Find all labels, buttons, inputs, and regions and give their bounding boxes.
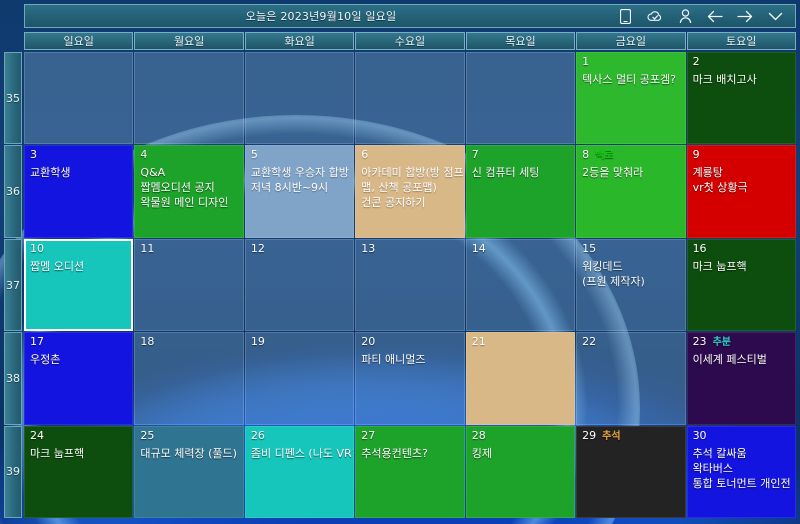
day-header: 3 xyxy=(30,149,127,161)
day-cell-25[interactable]: 25대규모 체력장 (풀드) xyxy=(134,426,243,518)
day-header: 6 xyxy=(361,149,458,161)
event-item[interactable]: 추석 칼싸움 xyxy=(693,446,790,461)
day-cell-17[interactable]: 17우정촌 xyxy=(24,332,133,424)
day-cell-11[interactable]: 11 xyxy=(134,239,243,331)
day-cell-9[interactable]: 9계룡탕vr첫 상황극 xyxy=(687,145,796,237)
weekday-header-3[interactable]: 수요일 xyxy=(355,32,464,50)
mobile-icon[interactable] xyxy=(617,8,633,24)
weekday-header-2[interactable]: 화요일 xyxy=(245,32,354,50)
event-list: 우정촌 xyxy=(30,352,127,367)
day-number: 26 xyxy=(251,430,265,442)
event-list: 킹제 xyxy=(472,446,569,461)
event-item[interactable]: 건콘 공지하기 xyxy=(361,195,458,210)
day-number: 8 xyxy=(582,149,589,161)
event-item[interactable]: 텍사스 멀티 공포겜? xyxy=(582,72,679,87)
day-cell-19[interactable]: 19 xyxy=(245,332,354,424)
chevron-down-icon[interactable] xyxy=(767,8,783,24)
day-number: 15 xyxy=(582,243,596,255)
event-item[interactable]: (프원 제작자) xyxy=(582,274,679,289)
day-number: 22 xyxy=(582,336,596,348)
event-item[interactable]: 2등을 맞춰라 xyxy=(582,165,679,180)
day-header: 26 xyxy=(251,430,348,442)
day-number: 28 xyxy=(472,430,486,442)
day-cell-7[interactable]: 7신 컴퓨터 세팅 xyxy=(466,145,575,237)
event-item[interactable]: vr첫 상황극 xyxy=(693,180,790,195)
weekday-header-4[interactable]: 목요일 xyxy=(466,32,575,50)
event-item[interactable]: 교환학생 우승자 합방 xyxy=(251,165,348,180)
event-list: 계룡탕vr첫 상황극 xyxy=(693,165,790,195)
event-list: 마크 눕프핵 xyxy=(693,259,790,274)
day-cell-10[interactable]: 10짭멤 오디션 xyxy=(24,239,133,331)
holiday-label: 추분 xyxy=(713,337,731,348)
day-cell-22[interactable]: 22 xyxy=(576,332,685,424)
day-header: 16 xyxy=(693,243,790,255)
day-header: 8백로 xyxy=(582,149,679,161)
day-header: 18 xyxy=(140,336,237,348)
day-number: 9 xyxy=(693,149,700,161)
day-cell-30[interactable]: 30추석 칼싸움왁타버스통합 토너먼트 개인전 xyxy=(687,426,796,518)
day-cell-26[interactable]: 26좀비 디펜스 (나도 VR) xyxy=(245,426,354,518)
day-header: 13 xyxy=(361,243,458,255)
day-cell-12[interactable]: 12 xyxy=(245,239,354,331)
event-list: 워킹데드(프원 제작자) xyxy=(582,259,679,289)
weekday-header-5[interactable]: 금요일 xyxy=(576,32,685,50)
day-number: 13 xyxy=(361,243,375,255)
day-cell-blank xyxy=(466,52,575,144)
day-cell-blank xyxy=(24,52,133,144)
day-cell-blank xyxy=(245,52,354,144)
day-header: 14 xyxy=(472,243,569,255)
titlebar-icon-group xyxy=(617,8,795,24)
event-list: 이세계 페스티벌 xyxy=(693,352,790,367)
event-item[interactable]: 마크 눕프핵 xyxy=(30,446,127,461)
event-item[interactable]: 교환학생 xyxy=(30,165,127,180)
event-item[interactable]: 킹제 xyxy=(472,446,569,461)
day-number: 12 xyxy=(251,243,265,255)
event-item[interactable]: 이세계 페스티벌 xyxy=(693,352,790,367)
day-cell-blank xyxy=(355,52,464,144)
week-number[interactable]: 38 xyxy=(4,332,22,424)
event-item[interactable]: 마크 배치고사 xyxy=(693,72,790,87)
day-header: 21 xyxy=(472,336,569,348)
day-cell-8[interactable]: 8백로2등을 맞춰라 xyxy=(576,145,685,237)
calendar-window: 오늘은 2023년9월10일 일요일 일요일월요일화요일수요일목요일금요일토요일 xyxy=(0,0,800,524)
day-number: 18 xyxy=(140,336,154,348)
day-number: 27 xyxy=(361,430,375,442)
event-item[interactable]: 짭멤오디션 공지 xyxy=(140,180,237,195)
day-cell-27[interactable]: 27추석용컨텐츠? xyxy=(355,426,464,518)
event-item[interactable]: 계룡탕 xyxy=(693,165,790,180)
day-number: 20 xyxy=(361,336,375,348)
event-list: 교환학생 xyxy=(30,165,127,180)
day-header: 7 xyxy=(472,149,569,161)
day-header: 2 xyxy=(693,56,790,68)
day-number: 1 xyxy=(582,56,589,68)
event-item[interactable]: 좀비 디펜스 (나도 VR) xyxy=(251,446,348,461)
event-list: 마크 배치고사 xyxy=(693,72,790,87)
event-item[interactable]: 추석용컨텐츠? xyxy=(361,446,458,461)
event-item[interactable]: 아카데미 합방(방 점프 xyxy=(361,165,458,180)
day-header: 22 xyxy=(582,336,679,348)
day-cell-6[interactable]: 6아카데미 합방(방 점프맵, 산책 공포맵)건콘 공지하기 xyxy=(355,145,464,237)
day-number: 21 xyxy=(472,336,486,348)
day-number: 2 xyxy=(693,56,700,68)
day-header: 17 xyxy=(30,336,127,348)
event-list: 교환학생 우승자 합방저녁 8시반~9시 xyxy=(251,165,348,195)
day-cell-1[interactable]: 1텍사스 멀티 공포겜? xyxy=(576,52,685,144)
day-cell-28[interactable]: 28킹제 xyxy=(466,426,575,518)
day-cell-24[interactable]: 24마크 눕프핵 xyxy=(24,426,133,518)
event-item[interactable]: 왁타버스 xyxy=(693,461,790,476)
weekday-header-row: 일요일월요일화요일수요일목요일금요일토요일 xyxy=(24,32,796,50)
day-number: 19 xyxy=(251,336,265,348)
week-number[interactable]: 37 xyxy=(4,239,22,331)
day-number: 30 xyxy=(693,430,707,442)
day-header: 11 xyxy=(140,243,237,255)
day-header: 29추석 xyxy=(582,430,679,442)
week-number[interactable]: 35 xyxy=(4,52,22,144)
day-header: 23추분 xyxy=(693,336,790,348)
day-header: 19 xyxy=(251,336,348,348)
event-item[interactable]: 짭멤 오디션 xyxy=(30,259,127,274)
arrow-left-icon[interactable] xyxy=(707,8,723,24)
event-list: 좀비 디펜스 (나도 VR) xyxy=(251,446,348,461)
week-number[interactable]: 39 xyxy=(4,426,22,518)
day-cell-15[interactable]: 15워킹데드(프원 제작자) xyxy=(576,239,685,331)
event-list: 추석 칼싸움왁타버스통합 토너먼트 개인전 xyxy=(693,446,790,491)
day-number: 14 xyxy=(472,243,486,255)
day-cell-blank xyxy=(134,52,243,144)
event-item[interactable]: 대규모 체력장 (풀드) xyxy=(140,446,237,461)
day-cell-14[interactable]: 14 xyxy=(466,239,575,331)
event-item[interactable]: 신 컴퓨터 세팅 xyxy=(472,165,569,180)
day-header: 30 xyxy=(693,430,790,442)
day-header: 10 xyxy=(30,243,127,255)
day-header: 4 xyxy=(140,149,237,161)
event-list: 마크 눕프핵 xyxy=(30,446,127,461)
event-item[interactable]: 파티 애니멀즈 xyxy=(361,352,458,367)
event-item[interactable]: Q&A xyxy=(140,165,237,180)
event-item[interactable]: 통합 토너먼트 개인전 xyxy=(693,476,790,491)
day-number: 6 xyxy=(361,149,368,161)
holiday-label: 추석 xyxy=(602,431,620,442)
arrow-right-icon[interactable] xyxy=(737,8,753,24)
day-number: 25 xyxy=(140,430,154,442)
weekday-header-6[interactable]: 토요일 xyxy=(687,32,796,50)
day-header: 12 xyxy=(251,243,348,255)
event-item[interactable]: 왁물원 메인 디자인 xyxy=(140,195,237,210)
day-header: 9 xyxy=(693,149,790,161)
day-number: 11 xyxy=(140,243,154,255)
person-icon[interactable] xyxy=(677,8,693,24)
week-number[interactable]: 36 xyxy=(4,145,22,237)
day-cell-29[interactable]: 29추석 xyxy=(576,426,685,518)
event-item[interactable]: 워킹데드 xyxy=(582,259,679,274)
day-cell-20[interactable]: 20파티 애니멀즈 xyxy=(355,332,464,424)
event-list: 아카데미 합방(방 점프맵, 산책 공포맵)건콘 공지하기 xyxy=(361,165,458,210)
day-number: 16 xyxy=(693,243,707,255)
day-cell-3[interactable]: 3교환학생 xyxy=(24,145,133,237)
event-list: Q&A짭멤오디션 공지왁물원 메인 디자인 xyxy=(140,165,237,210)
day-header: 1 xyxy=(582,56,679,68)
day-cell-5[interactable]: 5교환학생 우승자 합방저녁 8시반~9시 xyxy=(245,145,354,237)
event-item[interactable]: 저녁 8시반~9시 xyxy=(251,180,348,195)
day-cell-16[interactable]: 16마크 눕프핵 xyxy=(687,239,796,331)
calendar-titlebar: 오늘은 2023년9월10일 일요일 xyxy=(24,4,796,28)
day-number: 3 xyxy=(30,149,37,161)
holiday-label: 백로 xyxy=(595,150,613,161)
event-item[interactable]: 마크 눕프핵 xyxy=(693,259,790,274)
event-list: 대규모 체력장 (풀드) xyxy=(140,446,237,461)
day-cell-23[interactable]: 23추분이세계 페스티벌 xyxy=(687,332,796,424)
event-list: 텍사스 멀티 공포겜? xyxy=(582,72,679,87)
event-list: 파티 애니멀즈 xyxy=(361,352,458,367)
weekday-header-0[interactable]: 일요일 xyxy=(24,32,133,50)
weekday-header-1[interactable]: 월요일 xyxy=(134,32,243,50)
day-header: 25 xyxy=(140,430,237,442)
event-list: 추석용컨텐츠? xyxy=(361,446,458,461)
day-header: 5 xyxy=(251,149,348,161)
day-number: 5 xyxy=(251,149,258,161)
day-number: 4 xyxy=(140,149,147,161)
event-list: 짭멤 오디션 xyxy=(30,259,127,274)
cloud-check-icon[interactable] xyxy=(647,8,663,24)
day-cell-2[interactable]: 2마크 배치고사 xyxy=(687,52,796,144)
day-header: 27 xyxy=(361,430,458,442)
event-item[interactable]: 우정촌 xyxy=(30,352,127,367)
day-number: 24 xyxy=(30,430,44,442)
event-list: 신 컴퓨터 세팅 xyxy=(472,165,569,180)
day-number: 7 xyxy=(472,149,479,161)
day-header: 20 xyxy=(361,336,458,348)
page-title: 오늘은 2023년9월10일 일요일 xyxy=(25,8,617,24)
day-number: 17 xyxy=(30,336,44,348)
calendar-grid: 1텍사스 멀티 공포겜?2마크 배치고사3교환학생4Q&A짭멤오디션 공지왁물원… xyxy=(24,52,796,518)
day-number: 10 xyxy=(30,243,44,255)
day-header: 24 xyxy=(30,430,127,442)
day-cell-21[interactable]: 21 xyxy=(466,332,575,424)
day-header: 28 xyxy=(472,430,569,442)
day-cell-13[interactable]: 13 xyxy=(355,239,464,331)
event-item[interactable]: 맵, 산책 공포맵) xyxy=(361,180,458,195)
event-list: 2등을 맞춰라 xyxy=(582,165,679,180)
week-number-rail: 3536373839 xyxy=(4,52,22,518)
day-cell-18[interactable]: 18 xyxy=(134,332,243,424)
day-cell-4[interactable]: 4Q&A짭멤오디션 공지왁물원 메인 디자인 xyxy=(134,145,243,237)
day-number: 29 xyxy=(582,430,596,442)
day-number: 23 xyxy=(693,336,707,348)
day-header: 15 xyxy=(582,243,679,255)
